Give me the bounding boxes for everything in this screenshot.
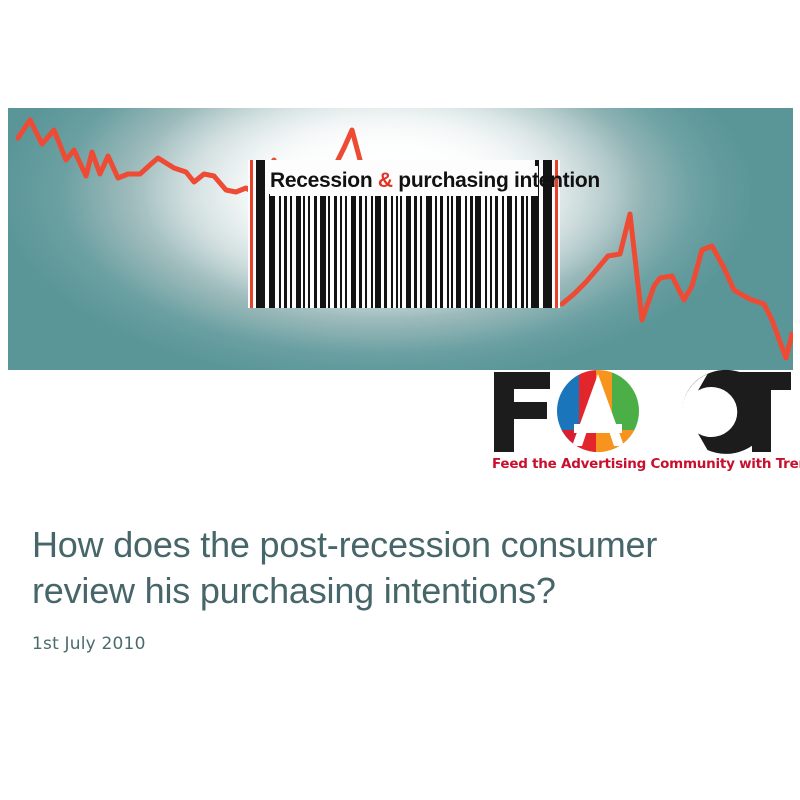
page-date: 1st July 2010 <box>32 634 762 654</box>
barcode-bar <box>308 194 310 308</box>
barcode-title-ampersand: & <box>378 169 393 192</box>
barcode-bar <box>531 194 537 308</box>
barcode-bar <box>314 194 317 308</box>
barcode-bar <box>475 194 481 308</box>
barcode-bar <box>470 194 473 308</box>
barcode-red-edge-left <box>250 160 253 308</box>
barcode-bar <box>400 194 402 308</box>
fact-logo-lettermark <box>490 368 795 456</box>
barcode-title-before: Recession <box>270 169 378 192</box>
barcode-graphic: Recession & purchasing intention <box>248 160 560 308</box>
barcode-bar <box>507 194 512 308</box>
barcode-bar <box>447 194 449 308</box>
barcode-bar <box>279 194 281 308</box>
barcode-bar <box>521 194 524 308</box>
barcode-bar <box>435 194 437 308</box>
logo-letter-a-mark <box>550 370 646 454</box>
barcode-bar <box>365 194 367 308</box>
barcode-bar <box>296 194 301 308</box>
barcode-bar <box>384 194 387 308</box>
barcode-bar <box>345 194 347 308</box>
hero-banner: Recession & purchasing intention <box>8 108 793 370</box>
barcode-bar <box>340 194 342 308</box>
barcode-guard-bar-left <box>256 160 265 308</box>
barcode-bar <box>371 194 373 308</box>
barcode-bar <box>440 194 443 308</box>
barcode-bar <box>269 194 275 308</box>
barcode-bar <box>375 194 381 308</box>
barcode-bar <box>456 194 461 308</box>
fact-logo: Feed the Advertising Community with Tren… <box>490 368 795 480</box>
title-block: How does the post-recession consumer rev… <box>32 522 762 654</box>
barcode-bar <box>391 194 393 308</box>
barcode-bar <box>320 194 326 308</box>
page-title: How does the post-recession consumer rev… <box>32 522 762 614</box>
barcode-bar <box>334 194 337 308</box>
barcode-bar <box>414 194 417 308</box>
barcode-bar <box>351 194 356 308</box>
barcode-bar <box>495 194 498 308</box>
fact-logo-tagline: Feed the Advertising Community with Tren… <box>492 456 795 472</box>
barcode-bar <box>426 194 432 308</box>
barcode-bar <box>284 194 287 308</box>
barcode-bar <box>290 194 292 308</box>
barcode-bar <box>303 194 305 308</box>
barcode-bar <box>406 194 411 308</box>
barcode-bar <box>451 194 453 308</box>
logo-letter-f <box>494 372 550 452</box>
barcode-bar <box>502 194 504 308</box>
trend-line-right <box>562 214 792 358</box>
barcode-bar <box>328 194 330 308</box>
barcode-title-text: Recession & purchasing intention <box>270 166 538 196</box>
barcode-bar <box>485 194 487 308</box>
barcode-bar <box>515 194 517 308</box>
barcode-bar <box>359 194 362 308</box>
barcode-bar <box>420 194 422 308</box>
barcode-title-after: purchasing intention <box>393 169 600 192</box>
barcode-bars <box>269 194 534 308</box>
barcode-bar <box>465 194 467 308</box>
barcode-bar <box>526 194 528 308</box>
barcode-bar <box>396 194 398 308</box>
barcode-bar <box>490 194 492 308</box>
